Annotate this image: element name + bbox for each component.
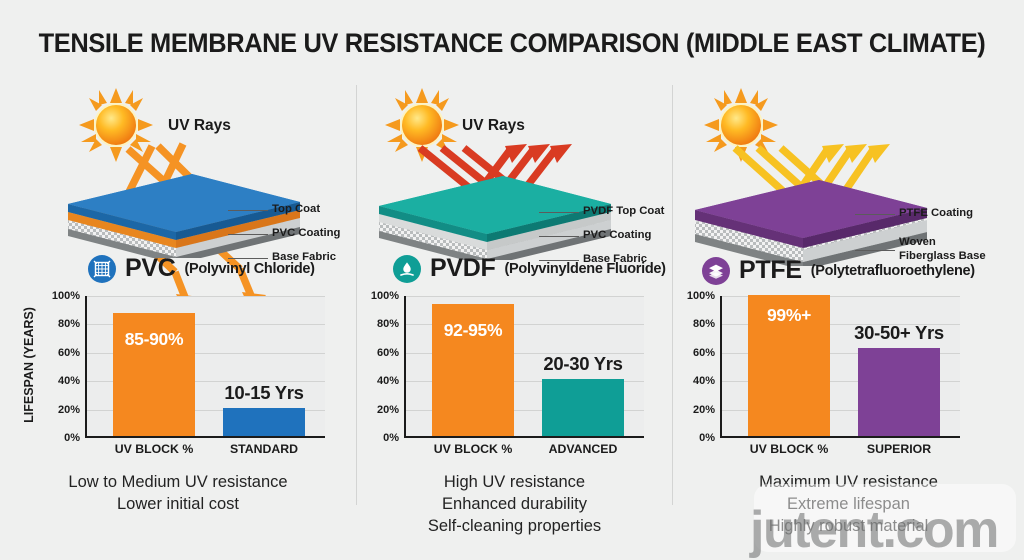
material-name-row-pvdf: PVDF (Polyvinyldene Fluoride) bbox=[393, 254, 666, 283]
infographic-canvas: TENSILE MEMBRANE UV RESISTANCE COMPARISO… bbox=[0, 0, 1024, 558]
material-name-row-pvc: PVC (Polyvinyl Chloride) bbox=[88, 254, 315, 283]
y-tick: 100% bbox=[52, 290, 80, 302]
chart-plot-area: 92-95% UV BLOCK % 20-30 Yrs ADVANCED bbox=[404, 296, 644, 438]
chart-pvc: LIFESPAN (YEARS) 100% 80% 60% 40% 20% 0%… bbox=[0, 296, 356, 466]
y-tick: 80% bbox=[377, 318, 399, 330]
y-tick: 40% bbox=[377, 375, 399, 387]
fabric-mesh-icon bbox=[93, 260, 111, 278]
chart-y-ticks: 100% 80% 60% 40% 20% 0% bbox=[673, 296, 715, 438]
material-abbr-ptfe: PTFE bbox=[739, 256, 802, 285]
leader-line bbox=[855, 250, 895, 251]
sun-icon bbox=[79, 88, 153, 162]
layer-label-coating: PTFE Coating bbox=[899, 207, 973, 220]
sun-icon bbox=[704, 88, 778, 162]
badge-ptfe bbox=[702, 257, 730, 285]
caption-pvc: Low to Medium UV resistance Lower initia… bbox=[0, 472, 356, 516]
chart-y-axis-label: LIFESPAN (YEARS) bbox=[22, 295, 36, 435]
bar-value-label: 99%+ bbox=[767, 305, 811, 326]
gridline bbox=[406, 296, 644, 297]
leader-line bbox=[539, 212, 579, 213]
leader-line bbox=[539, 236, 579, 237]
bar-value-label: 10-15 Yrs bbox=[224, 382, 303, 404]
y-tick: 20% bbox=[58, 404, 80, 416]
chart-ptfe: 100% 80% 60% 40% 20% 0% 99%+ UV BLOCK % … bbox=[673, 296, 1024, 466]
bar-uv-block[interactable]: 99%+ UV BLOCK % bbox=[748, 295, 830, 436]
badge-pvdf bbox=[393, 255, 421, 283]
watermark-text: jutent.com bbox=[750, 500, 998, 560]
sun-icon bbox=[385, 88, 459, 162]
y-tick: 60% bbox=[377, 347, 399, 359]
y-tick: 40% bbox=[693, 375, 715, 387]
material-abbr-pvdf: PVDF bbox=[430, 254, 495, 283]
caption-line: Enhanced durability bbox=[357, 494, 672, 516]
y-tick: 0% bbox=[64, 432, 80, 444]
chart-y-ticks: 100% 80% 60% 40% 20% 0% bbox=[357, 296, 399, 438]
leader-line bbox=[228, 234, 268, 235]
layer-label-base-woven: Woven bbox=[899, 236, 936, 249]
bar-category-label: STANDARD bbox=[230, 442, 298, 456]
leader-line bbox=[228, 210, 268, 211]
badge-pvc bbox=[88, 255, 116, 283]
bar-category-label: ADVANCED bbox=[549, 442, 618, 456]
panel-pvc: UV Rays bbox=[0, 84, 356, 554]
bar-category-label: SUPERIOR bbox=[867, 442, 931, 456]
bar-value-label: 20-30 Yrs bbox=[543, 353, 622, 375]
y-tick: 20% bbox=[377, 404, 399, 416]
material-fullname-pvc: (Polyvinyl Chloride) bbox=[185, 261, 315, 277]
membrane-cross-section bbox=[371, 174, 621, 265]
chart-plot-area: 85-90% UV BLOCK % 10-15 Yrs STANDARD bbox=[85, 296, 325, 438]
y-tick: 60% bbox=[58, 347, 80, 359]
chart-pvdf: 100% 80% 60% 40% 20% 0% 92-95% UV BLOCK … bbox=[357, 296, 672, 466]
bar-value-label: 30-50+ Yrs bbox=[854, 322, 944, 344]
bar-lifespan[interactable]: 30-50+ Yrs SUPERIOR bbox=[858, 348, 940, 436]
caption-line: Lower initial cost bbox=[0, 494, 356, 516]
bar-uv-block[interactable]: 85-90% UV BLOCK % bbox=[113, 313, 195, 437]
caption-line: Low to Medium UV resistance bbox=[0, 472, 356, 494]
y-tick: 100% bbox=[371, 290, 399, 302]
y-tick: 100% bbox=[687, 290, 715, 302]
y-tick: 60% bbox=[693, 347, 715, 359]
layer-label-coating: PVC Coating bbox=[272, 227, 340, 240]
y-tick: 0% bbox=[699, 432, 715, 444]
bar-value-label: 92-95% bbox=[444, 320, 503, 341]
y-tick: 0% bbox=[383, 432, 399, 444]
caption-line: Self-cleaning properties bbox=[357, 516, 672, 538]
bar-category-label: UV BLOCK % bbox=[434, 442, 513, 456]
chart-y-ticks: 100% 80% 60% 40% 20% 0% bbox=[38, 296, 80, 438]
page-title: TENSILE MEMBRANE UV RESISTANCE COMPARISO… bbox=[20, 28, 1003, 59]
uv-rays-label: UV Rays bbox=[168, 117, 231, 135]
bar-category-label: UV BLOCK % bbox=[750, 442, 829, 456]
layer-label-coating: PVC Coating bbox=[583, 229, 651, 242]
gridline bbox=[87, 296, 325, 297]
caption-line: High UV resistance bbox=[357, 472, 672, 494]
y-tick: 80% bbox=[58, 318, 80, 330]
water-repellent-droplet-icon bbox=[398, 260, 416, 278]
bar-lifespan[interactable]: 10-15 Yrs STANDARD bbox=[223, 408, 305, 436]
material-abbr-pvc: PVC bbox=[125, 254, 176, 283]
bar-category-label: UV BLOCK % bbox=[115, 442, 194, 456]
y-tick: 20% bbox=[693, 404, 715, 416]
membrane-cross-section bbox=[60, 172, 310, 263]
bar-lifespan[interactable]: 20-30 Yrs ADVANCED bbox=[542, 379, 624, 436]
uv-rays-label: UV Rays bbox=[462, 117, 525, 135]
layers-stack-icon bbox=[707, 262, 725, 280]
y-tick: 40% bbox=[58, 375, 80, 387]
y-tick: 80% bbox=[693, 318, 715, 330]
layer-label-top-coat: Top Coat bbox=[272, 203, 320, 216]
layer-label-top-coat: PVDF Top Coat bbox=[583, 205, 664, 218]
bar-value-label: 85-90% bbox=[125, 329, 184, 350]
material-fullname-ptfe: (Polytetrafluoroethylene) bbox=[811, 263, 975, 279]
material-fullname-pvdf: (Polyvinyldene Fluoride) bbox=[504, 261, 665, 277]
chart-plot-area: 99%+ UV BLOCK % 30-50+ Yrs SUPERIOR bbox=[720, 296, 960, 438]
bar-uv-block[interactable]: 92-95% UV BLOCK % bbox=[432, 304, 514, 436]
caption-pvdf: High UV resistance Enhanced durability S… bbox=[357, 472, 672, 537]
leader-line bbox=[855, 214, 895, 215]
panel-pvdf: UV Rays bbox=[357, 84, 672, 554]
material-name-row-ptfe: PTFE (Polytetrafluoroethylene) bbox=[702, 256, 975, 285]
